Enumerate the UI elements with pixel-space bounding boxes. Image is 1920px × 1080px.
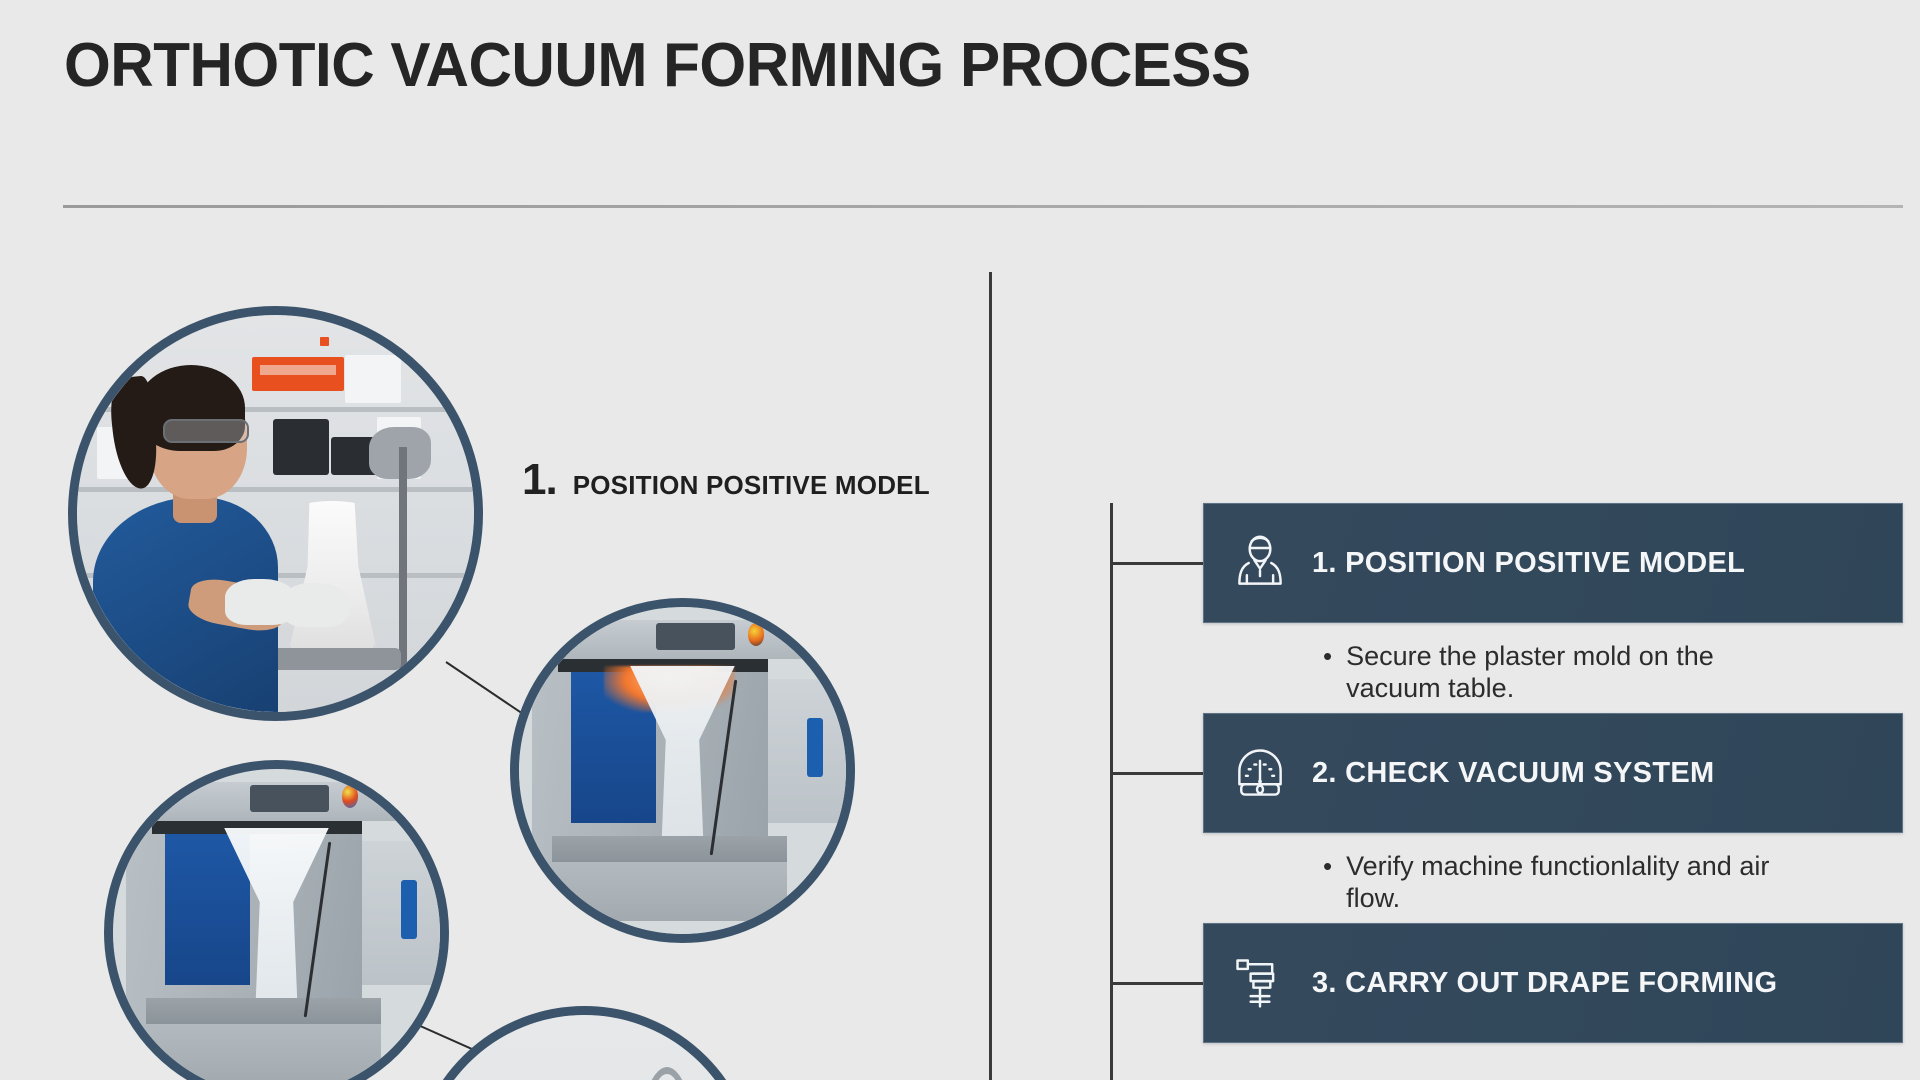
photo-2-content	[519, 607, 846, 934]
orange-marker	[320, 337, 329, 346]
step-title-2: 2. CHECK VACUUM SYSTEM	[1312, 757, 1714, 790]
step-title-3: 3. CARRY OUT DRAPE FORMING	[1312, 967, 1777, 1000]
machine-base	[139, 1024, 381, 1080]
left-step-label: 1. POSITION POSITIVE MODEL	[522, 455, 930, 505]
pressure-gauge-icon	[1230, 741, 1290, 805]
steps-panel: 1. POSITION POSITIVE MODEL • Secure the …	[1110, 490, 1910, 1080]
branch-connector-step-3	[1110, 982, 1203, 985]
bullet-text: Verify machine functionlality and air fl…	[1346, 851, 1803, 915]
step-title-1: 1. POSITION POSITIVE MODEL	[1312, 547, 1745, 580]
step-card-3[interactable]: 3. CARRY OUT DRAPE FORMING	[1203, 923, 1903, 1043]
branch-connector-step-2	[1110, 772, 1203, 775]
photo-vacuum-forming-machine-heating	[510, 598, 855, 943]
blue-clamp-arm	[401, 880, 417, 939]
left-step-text: POSITION POSITIVE MODEL	[573, 470, 930, 501]
machine-base	[545, 862, 787, 921]
vacuum-table	[552, 836, 787, 865]
vacuum-table	[146, 998, 381, 1027]
title-divider-rule	[63, 205, 1903, 208]
branch-connector-step-1	[1110, 562, 1203, 565]
bullet-dot: •	[1323, 851, 1332, 883]
bullet-text: Secure the plaster mold on the vacuum ta…	[1346, 641, 1803, 705]
photo-technician-positioning-plaster-model	[68, 306, 483, 721]
photo-vacuum-forming-machine-cooling	[104, 760, 449, 1080]
blue-clamp-arm	[807, 718, 823, 777]
gloved-hand-right	[283, 583, 349, 627]
steps-trunk-line	[1110, 503, 1113, 1080]
vacuum-table-base	[263, 648, 401, 670]
step-bullets-2: • Verify machine functionlality and air …	[1203, 851, 1903, 915]
technician-person-icon	[1230, 531, 1290, 595]
dark-equipment-a	[273, 419, 329, 475]
photo-operator-at-workbench	[412, 1006, 757, 1080]
bullet-item: • Verify machine functionlality and air …	[1323, 851, 1803, 915]
bullet-item: • Secure the plaster mold on the vacuum …	[1323, 641, 1803, 705]
step-card-2[interactable]: 2. CHECK VACUUM SYSTEM	[1203, 713, 1903, 833]
step-bullets-1: • Secure the plaster mold on the vacuum …	[1203, 641, 1903, 705]
control-panel	[250, 785, 328, 811]
photo-3-content	[113, 769, 440, 1080]
center-divider-line	[989, 272, 992, 1080]
white-supply-box-a	[345, 355, 401, 403]
page-title: ORTHOTIC VACUUM FORMING PROCESS	[64, 30, 1251, 101]
bullet-dot: •	[1323, 641, 1332, 673]
step-card-1[interactable]: 1. POSITION POSITIVE MODEL	[1203, 503, 1903, 623]
safety-glasses	[163, 419, 249, 443]
left-step-number: 1.	[522, 455, 557, 505]
control-panel	[656, 623, 734, 649]
step-block-1: 1. POSITION POSITIVE MODEL • Secure the …	[1203, 503, 1903, 705]
photo-4-content	[421, 1015, 748, 1080]
bench-background	[421, 1015, 748, 1080]
step-block-2: 2. CHECK VACUUM SYSTEM • Verify machine …	[1203, 713, 1903, 915]
step-block-3: 3. CARRY OUT DRAPE FORMING	[1203, 923, 1903, 1043]
orange-tool-tray	[252, 357, 344, 391]
forming-press-machine-icon	[1230, 951, 1290, 1015]
equipment-rack-post	[399, 447, 407, 679]
slide-canvas: ORTHOTIC VACUUM FORMING PROCESS	[0, 0, 1920, 1080]
photo-1-content	[77, 315, 474, 712]
